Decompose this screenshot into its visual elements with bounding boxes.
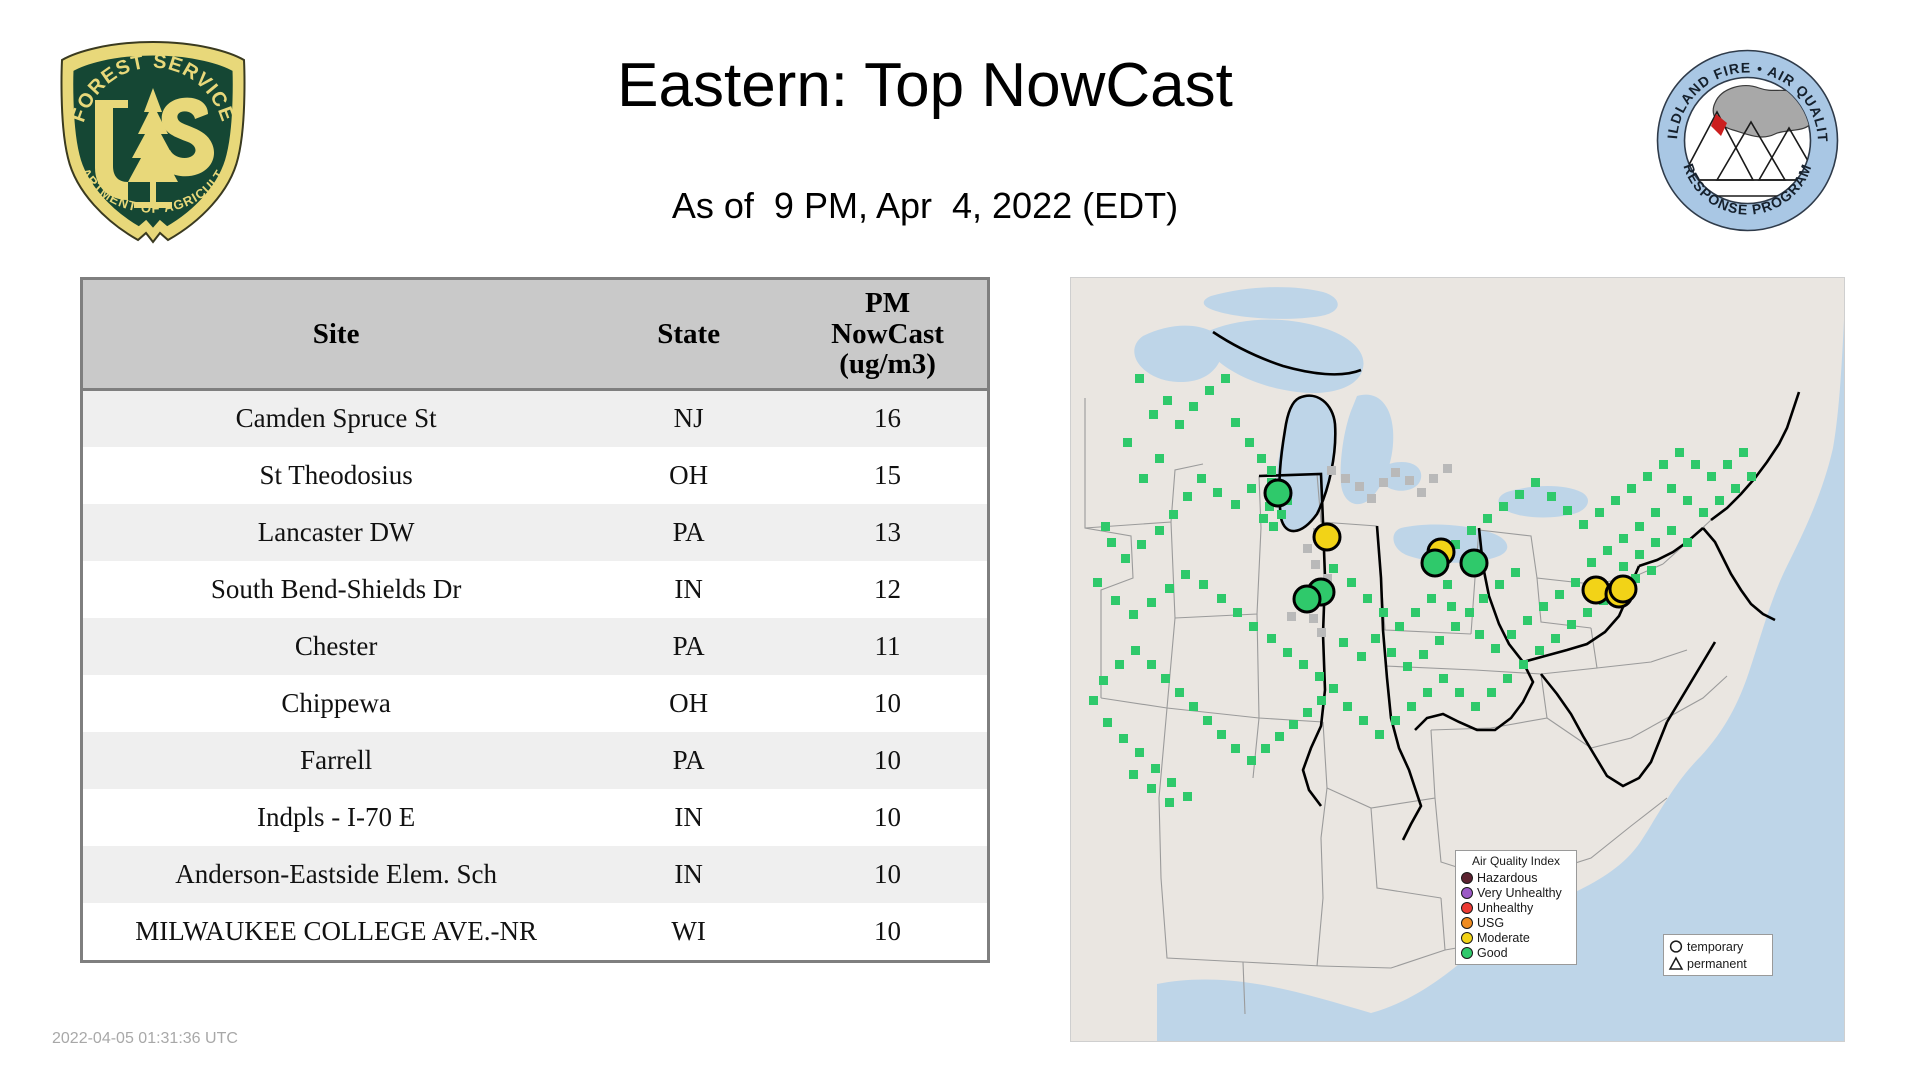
cell-pm-nowcast: 16 xyxy=(788,390,987,447)
usfs-shield-logo: FOREST SERVICE DEPARTMENT OF AGRICULTURE xyxy=(48,30,258,255)
cell-state: NJ xyxy=(589,390,788,447)
cell-pm-nowcast: 15 xyxy=(788,447,987,504)
table-header: Site State PM NowCast (ug/m3) xyxy=(83,280,987,390)
generated-timestamp: 2022-04-05 01:31:36 UTC xyxy=(52,1030,238,1048)
table-row: Indpls - I-70 EIN10 xyxy=(83,789,987,846)
cell-site: Chippewa xyxy=(83,675,589,732)
table-row: Anderson-Eastside Elem. SchIN10 xyxy=(83,846,987,903)
legend-row-temporary: temporary xyxy=(1668,938,1768,955)
cell-site: MILWAUKEE COLLEGE AVE.-NR xyxy=(83,903,589,960)
column-header-pm-nowcast: PM NowCast (ug/m3) xyxy=(788,280,987,390)
table-row: ChesterPA11 xyxy=(83,618,987,675)
cell-site: Farrell xyxy=(83,732,589,789)
aqi-legend-label: Hazardous xyxy=(1477,871,1537,885)
aqi-legend-label: Unhealthy xyxy=(1477,901,1533,915)
cell-pm-nowcast: 13 xyxy=(788,504,987,561)
table-row: Camden Spruce StNJ16 xyxy=(83,390,987,447)
page-subtitle-asof: As of 9 PM, Apr 4, 2022 (EDT) xyxy=(300,185,1550,227)
column-header-pm-line2: NowCast xyxy=(792,319,983,350)
wfaqrp-logo: WILDLAND FIRE • AIR QUALITY RESPONSE PRO… xyxy=(1655,48,1840,233)
column-header-pm-line3: (ug/m3) xyxy=(792,349,983,380)
cell-pm-nowcast: 10 xyxy=(788,846,987,903)
cell-pm-nowcast: 11 xyxy=(788,618,987,675)
legend-row-permanent: permanent xyxy=(1668,955,1768,972)
aqi-swatch-icon xyxy=(1461,947,1473,959)
cell-state: IN xyxy=(589,789,788,846)
page-title: Eastern: Top NowCast xyxy=(300,50,1550,121)
aqi-swatch-icon xyxy=(1461,887,1473,899)
aqi-legend-row: Hazardous xyxy=(1461,870,1571,885)
cell-state: PA xyxy=(589,504,788,561)
top-site-marker[interactable]: MILWAUKEE COLLEGE AVE.-NR — Good xyxy=(1265,480,1291,506)
cell-state: WI xyxy=(589,903,788,960)
aqi-legend-row: Very Unhealthy xyxy=(1461,885,1571,900)
column-header-site: Site xyxy=(83,280,589,390)
cell-site: Indpls - I-70 E xyxy=(83,789,589,846)
cell-pm-nowcast: 10 xyxy=(788,789,987,846)
table-row: South Bend-Shields DrIN12 xyxy=(83,561,987,618)
top-site-marker[interactable]: Farrell — Good xyxy=(1461,550,1487,576)
lake-ontario xyxy=(1498,486,1588,517)
cell-state: IN xyxy=(589,846,788,903)
top-site-marker[interactable]: Camden Spruce St — Moderate xyxy=(1610,576,1636,602)
cell-site: South Bend-Shields Dr xyxy=(83,561,589,618)
top-site-marker[interactable]: Indpls - I-70 E — Good xyxy=(1294,586,1320,612)
nowcast-report-page: FOREST SERVICE DEPARTMENT OF AGRICULTURE xyxy=(0,0,1920,1080)
aqi-legend-label: Good xyxy=(1477,946,1508,960)
legend-label-temporary: temporary xyxy=(1687,940,1743,954)
cell-site: Chester xyxy=(83,618,589,675)
cell-pm-nowcast: 10 xyxy=(788,903,987,960)
cell-site: Anderson-Eastside Elem. Sch xyxy=(83,846,589,903)
aqi-swatch-icon xyxy=(1461,902,1473,914)
aqi-legend: Air Quality Index HazardousVery Unhealth… xyxy=(1455,850,1577,965)
table-header-row: Site State PM NowCast (ug/m3) xyxy=(83,280,987,390)
cell-pm-nowcast: 10 xyxy=(788,732,987,789)
cell-state: OH xyxy=(589,675,788,732)
cell-site: Lancaster DW xyxy=(83,504,589,561)
table-row: FarrellPA10 xyxy=(83,732,987,789)
aqi-legend-label: Very Unhealthy xyxy=(1477,886,1562,900)
aqi-legend-row: USG xyxy=(1461,915,1571,930)
top-site-marker[interactable]: South Bend-Shields Dr — Moderate xyxy=(1314,524,1340,550)
aqi-legend-label: USG xyxy=(1477,916,1504,930)
cell-site: Camden Spruce St xyxy=(83,390,589,447)
cell-site: St Theodosius xyxy=(83,447,589,504)
table-row: St TheodosiusOH15 xyxy=(83,447,987,504)
column-header-state: State xyxy=(589,280,788,390)
cell-state: PA xyxy=(589,618,788,675)
aqi-legend-row: Good xyxy=(1461,945,1571,960)
monitor-type-legend: temporary permanent xyxy=(1663,934,1773,976)
cell-state: PA xyxy=(589,732,788,789)
aqi-swatch-icon xyxy=(1461,932,1473,944)
top-site-marker[interactable]: St Theodosius — Good xyxy=(1422,550,1448,576)
aqi-swatch-icon xyxy=(1461,872,1473,884)
aqi-legend-row: Unhealthy xyxy=(1461,900,1571,915)
aqi-legend-row: Moderate xyxy=(1461,930,1571,945)
table-row: MILWAUKEE COLLEGE AVE.-NRWI10 xyxy=(83,903,987,960)
table-body: Camden Spruce StNJ16St TheodosiusOH15Lan… xyxy=(83,390,987,960)
column-header-pm-line1: PM xyxy=(792,288,983,319)
aqi-legend-rows: HazardousVery UnhealthyUnhealthyUSGModer… xyxy=(1461,870,1571,960)
top-nowcast-table-container: Site State PM NowCast (ug/m3) Camden Spr… xyxy=(80,277,990,963)
legend-label-permanent: permanent xyxy=(1687,957,1747,971)
cell-pm-nowcast: 12 xyxy=(788,561,987,618)
eastern-us-aqi-map[interactable]: MILWAUKEE COLLEGE AVE.-NR — GoodSouth Be… xyxy=(1070,277,1845,1042)
circle-outline-icon xyxy=(1668,939,1684,954)
aqi-swatch-icon xyxy=(1461,917,1473,929)
table-row: Lancaster DWPA13 xyxy=(83,504,987,561)
cell-state: IN xyxy=(589,561,788,618)
top-nowcast-table: Site State PM NowCast (ug/m3) Camden Spr… xyxy=(83,280,987,960)
triangle-outline-icon xyxy=(1668,956,1684,971)
cell-state: OH xyxy=(589,447,788,504)
table-row: ChippewaOH10 xyxy=(83,675,987,732)
cell-pm-nowcast: 10 xyxy=(788,675,987,732)
aqi-legend-label: Moderate xyxy=(1477,931,1530,945)
aqi-legend-title: Air Quality Index xyxy=(1461,854,1571,868)
